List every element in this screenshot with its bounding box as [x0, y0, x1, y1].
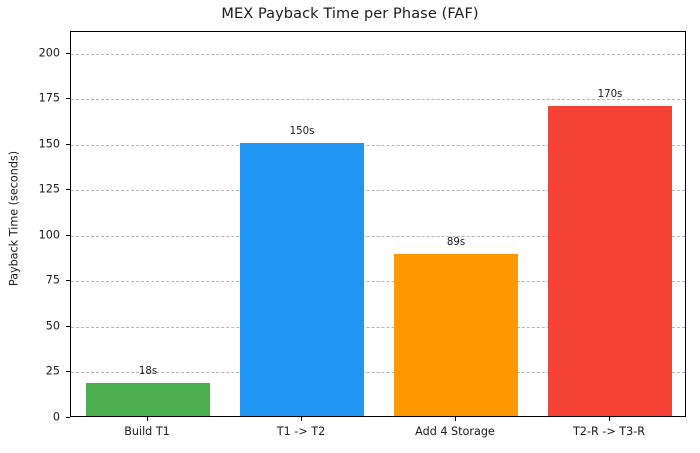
x-tick-label: T2-R -> T3-R	[519, 425, 699, 438]
y-tick-label: 0	[0, 411, 60, 424]
bar-chart-figure: MEX Payback Time per Phase (FAF) Payback…	[0, 0, 700, 453]
y-tick-label: 50	[0, 319, 60, 332]
bar-value-label: 170s	[598, 89, 623, 100]
y-tick-label: 125	[0, 183, 60, 196]
y-tick-label: 100	[0, 228, 60, 241]
y-tick-label: 25	[0, 365, 60, 378]
y-tick-label: 175	[0, 92, 60, 105]
bar-value-label: 150s	[290, 126, 315, 137]
x-tick-mark	[455, 417, 456, 421]
bar-value-label: 18s	[139, 366, 157, 377]
chart-title: MEX Payback Time per Phase (FAF)	[0, 6, 700, 22]
y-tick-label: 200	[0, 46, 60, 59]
x-tick-mark	[301, 417, 302, 421]
x-tick-label: Build T1	[57, 425, 237, 438]
plot-area: 18s150s89s170s	[70, 31, 686, 417]
x-tick-mark	[609, 417, 610, 421]
bar-value-labels: 18s150s89s170s	[71, 32, 685, 416]
bar-value-label: 89s	[447, 237, 465, 248]
x-tick-label: Add 4 Storage	[365, 425, 545, 438]
x-tick-mark	[147, 417, 148, 421]
x-axis-ticks: Build T1T1 -> T2Add 4 StorageT2-R -> T3-…	[70, 417, 686, 453]
x-tick-label: T1 -> T2	[211, 425, 391, 438]
y-tick-label: 75	[0, 274, 60, 287]
y-tick-label: 150	[0, 137, 60, 150]
